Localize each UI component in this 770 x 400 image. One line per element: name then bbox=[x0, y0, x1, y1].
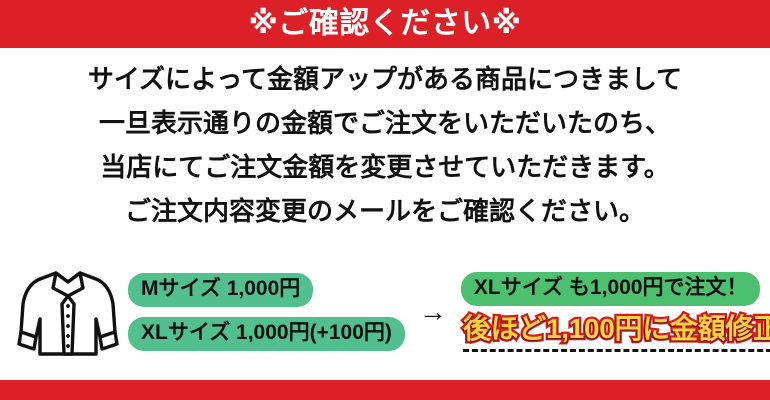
page-title: ※ご確認ください※ bbox=[249, 9, 522, 39]
price-after-group: XLサイズ も1,000円で注文！ 後ほど1,100円に金額修正 bbox=[461, 272, 770, 352]
badge-m-size-price: Mサイズ 1,000円 bbox=[128, 273, 313, 307]
right-arrow-icon: → bbox=[405, 298, 461, 326]
notice-line-3: 当店にてご注文金額を変更させていただきます。 bbox=[100, 154, 669, 180]
price-fix-note: 後ほど1,100円に金額修正 bbox=[463, 314, 770, 344]
notice-line-4: ご注文内容変更のメールをご確認ください。 bbox=[125, 198, 645, 224]
dashed-underline bbox=[463, 349, 770, 352]
notice-line-1: サイズによって金額アップがある商品につきまして bbox=[88, 66, 682, 92]
badge-xl-size-price: XLサイズ 1,000円(+100円) bbox=[128, 317, 405, 351]
footer-bar bbox=[0, 380, 770, 400]
size-price-notice-banner: ※ご確認ください※ サイズによって金額アップがある商品につきまして 一旦表示通り… bbox=[0, 0, 770, 400]
price-comparison-row: Mサイズ 1,000円 XLサイズ 1,000円(+100円) → XLサイズ … bbox=[0, 224, 770, 400]
notice-message-block: サイズによって金額アップがある商品につきまして 一旦表示通りの金額でご注文をいた… bbox=[0, 48, 770, 224]
notice-line-2: 一旦表示通りの金額でご注文をいただいたのち、 bbox=[99, 110, 671, 136]
header-bar: ※ご確認ください※ bbox=[0, 0, 770, 48]
dress-shirt-icon bbox=[16, 260, 120, 364]
badge-xl-order-same-price: XLサイズ も1,000円で注文！ bbox=[461, 272, 761, 306]
price-before-group: Mサイズ 1,000円 XLサイズ 1,000円(+100円) bbox=[128, 273, 405, 350]
price-fix-note-wrap: 後ほど1,100円に金額修正 bbox=[461, 314, 770, 352]
